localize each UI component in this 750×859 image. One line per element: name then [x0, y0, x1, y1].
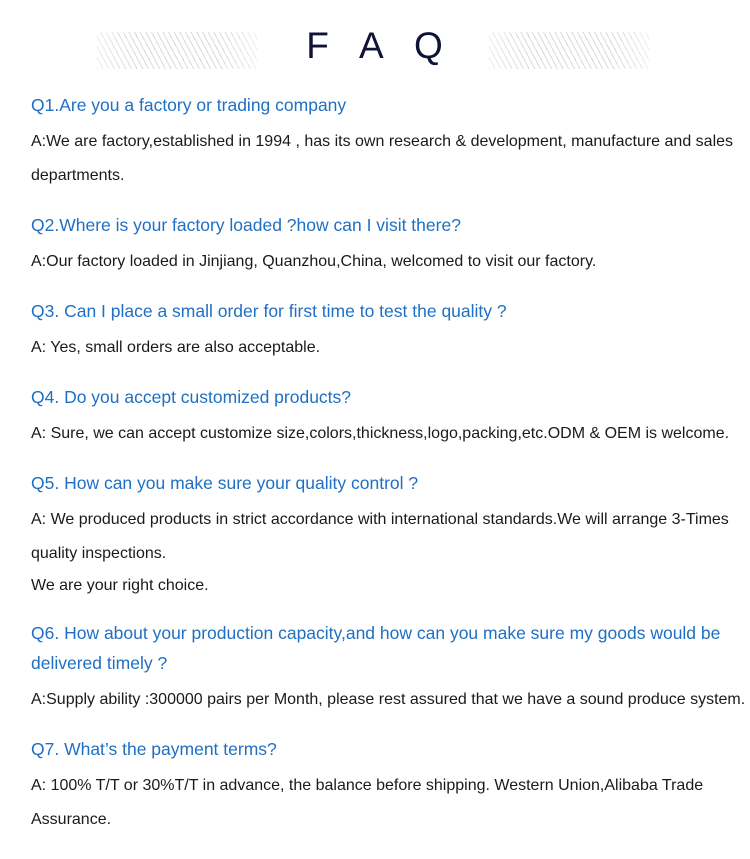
faq-answer: A:Our factory loaded in Jinjiang, Quanzh…	[31, 245, 746, 279]
faq-header: F A Q	[0, 0, 750, 90]
faq-item: Q3. Can I place a small order for first …	[31, 296, 746, 365]
hatch-decoration-right-icon	[489, 32, 649, 69]
faq-answer: A:We are factory,established in 1994 , h…	[31, 125, 746, 193]
faq-answer: A: Sure, we can accept customize size,co…	[31, 417, 746, 451]
faq-question: Q2.Where is your factory loaded ?how can…	[31, 210, 731, 240]
faq-answer-extra: We are your right choice.	[31, 571, 746, 601]
faq-question: Q3. Can I place a small order for first …	[31, 296, 731, 326]
faq-item: Q7. What’s the payment terms? A: 100% T/…	[31, 734, 746, 837]
faq-item: Q6. How about your production capacity,a…	[31, 618, 746, 717]
faq-answer: A: 100% T/T or 30%T/T in advance, the ba…	[31, 769, 746, 837]
faq-question: Q6. How about your production capacity,a…	[31, 618, 731, 678]
faq-answer: A: We produced products in strict accord…	[31, 503, 746, 571]
faq-answer: A: Yes, small orders are also acceptable…	[31, 331, 746, 365]
faq-list: Q1.Are you a factory or trading company …	[0, 90, 750, 837]
faq-item: Q5. How can you make sure your quality c…	[31, 468, 746, 601]
faq-answer: A:Supply ability :300000 pairs per Month…	[31, 683, 746, 717]
faq-question: Q4. Do you accept customized products?	[31, 382, 731, 412]
faq-item: Q1.Are you a factory or trading company …	[31, 90, 746, 193]
faq-question: Q5. How can you make sure your quality c…	[31, 468, 731, 498]
hatch-decoration-left-icon	[97, 32, 257, 69]
faq-item: Q4. Do you accept customized products? A…	[31, 382, 746, 451]
faq-page: F A Q Q1.Are you a factory or trading co…	[0, 0, 750, 859]
page-title: F A Q	[296, 27, 454, 64]
faq-item: Q2.Where is your factory loaded ?how can…	[31, 210, 746, 279]
faq-question: Q7. What’s the payment terms?	[31, 734, 731, 764]
faq-question: Q1.Are you a factory or trading company	[31, 90, 731, 120]
